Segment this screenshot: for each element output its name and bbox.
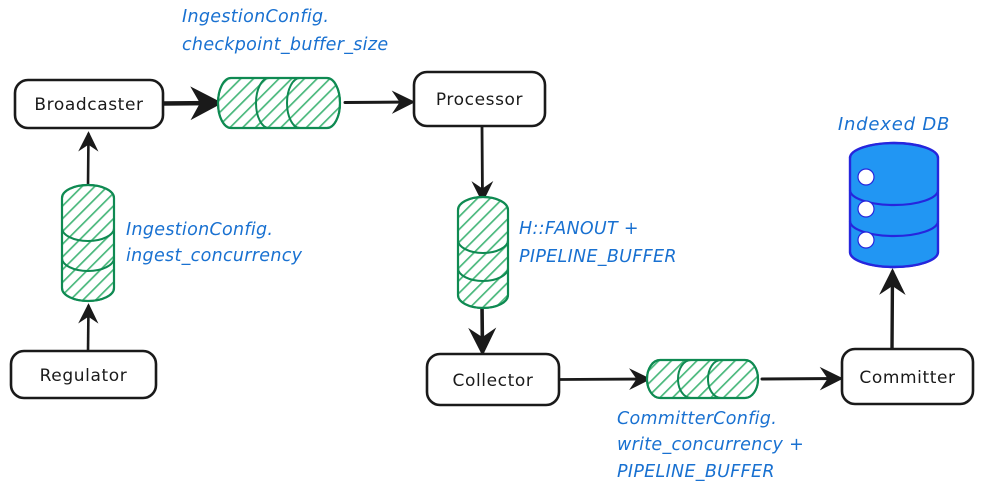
edge-processor-to-fanout-buffer (482, 126, 483, 200)
buffer-checkpoint-buffer (218, 78, 340, 128)
edge-broadcaster-to-checkpoint-buffer (163, 103, 218, 104)
node-collector-label: Collector (453, 371, 534, 391)
annotation-line: ingest_concurrency (126, 246, 303, 266)
edge-fanout-buffer-to-collector (482, 305, 483, 352)
label-indexed-db: Indexed DB (838, 114, 950, 135)
annotation-checkpoint-buffer-size: IngestionConfig. checkpoint_buffer_size (182, 7, 388, 55)
annotation-write-concurrency: CommitterConfig. write_concurrency + PIP… (617, 409, 804, 482)
pipeline-diagram: Broadcaster Processor Regulator Collecto… (0, 0, 987, 492)
db-indicator-dot (858, 232, 874, 248)
annotation-line: PIPELINE_BUFFER (617, 462, 775, 482)
datastore-indexed-db[interactable] (850, 143, 938, 267)
buffer-ingest-buffer (62, 185, 114, 301)
node-regulator[interactable]: Regulator (11, 351, 156, 398)
diagram-canvas: Broadcaster Processor Regulator Collecto… (0, 0, 987, 492)
node-collector[interactable]: Collector (427, 354, 559, 405)
node-committer-label: Committer (859, 368, 955, 388)
node-committer[interactable]: Committer (842, 349, 973, 404)
db-indicator-dot (858, 169, 874, 185)
annotation-line: IngestionConfig. (126, 220, 273, 240)
annotation-line: PIPELINE_BUFFER (519, 247, 677, 267)
buffer-write-buffer (647, 360, 758, 398)
annotation-line: CommitterConfig. (617, 409, 777, 429)
annotation-ingest-concurrency: IngestionConfig. ingest_concurrency (126, 220, 303, 266)
db-indicator-dot (858, 201, 874, 217)
edge-regulator-to-ingest-buffer (88, 306, 89, 352)
annotation-line: H::FANOUT + (519, 219, 639, 239)
node-regulator-label: Regulator (40, 366, 128, 386)
annotation-fanout-pipeline-buffer: H::FANOUT + PIPELINE_BUFFER (519, 219, 677, 267)
buffer-fanout-buffer (458, 197, 508, 308)
node-broadcaster-label: Broadcaster (34, 95, 143, 115)
node-processor-label: Processor (436, 90, 523, 110)
edge-collector-to-write-buffer (560, 379, 648, 380)
annotation-line: write_concurrency + (617, 435, 804, 455)
annotation-line: IngestionConfig. (182, 7, 329, 27)
node-processor[interactable]: Processor (414, 72, 545, 126)
edge-write-buffer-to-committer (762, 379, 840, 380)
indexed-db-title: Indexed DB (838, 114, 950, 135)
node-broadcaster[interactable]: Broadcaster (15, 80, 163, 128)
edge-committer-to-indexed-db (892, 272, 893, 350)
edge-ingest-buffer-to-broadcaster (88, 134, 89, 186)
annotation-line: checkpoint_buffer_size (182, 35, 388, 55)
edge-checkpoint-buffer-to-processor (345, 102, 412, 103)
